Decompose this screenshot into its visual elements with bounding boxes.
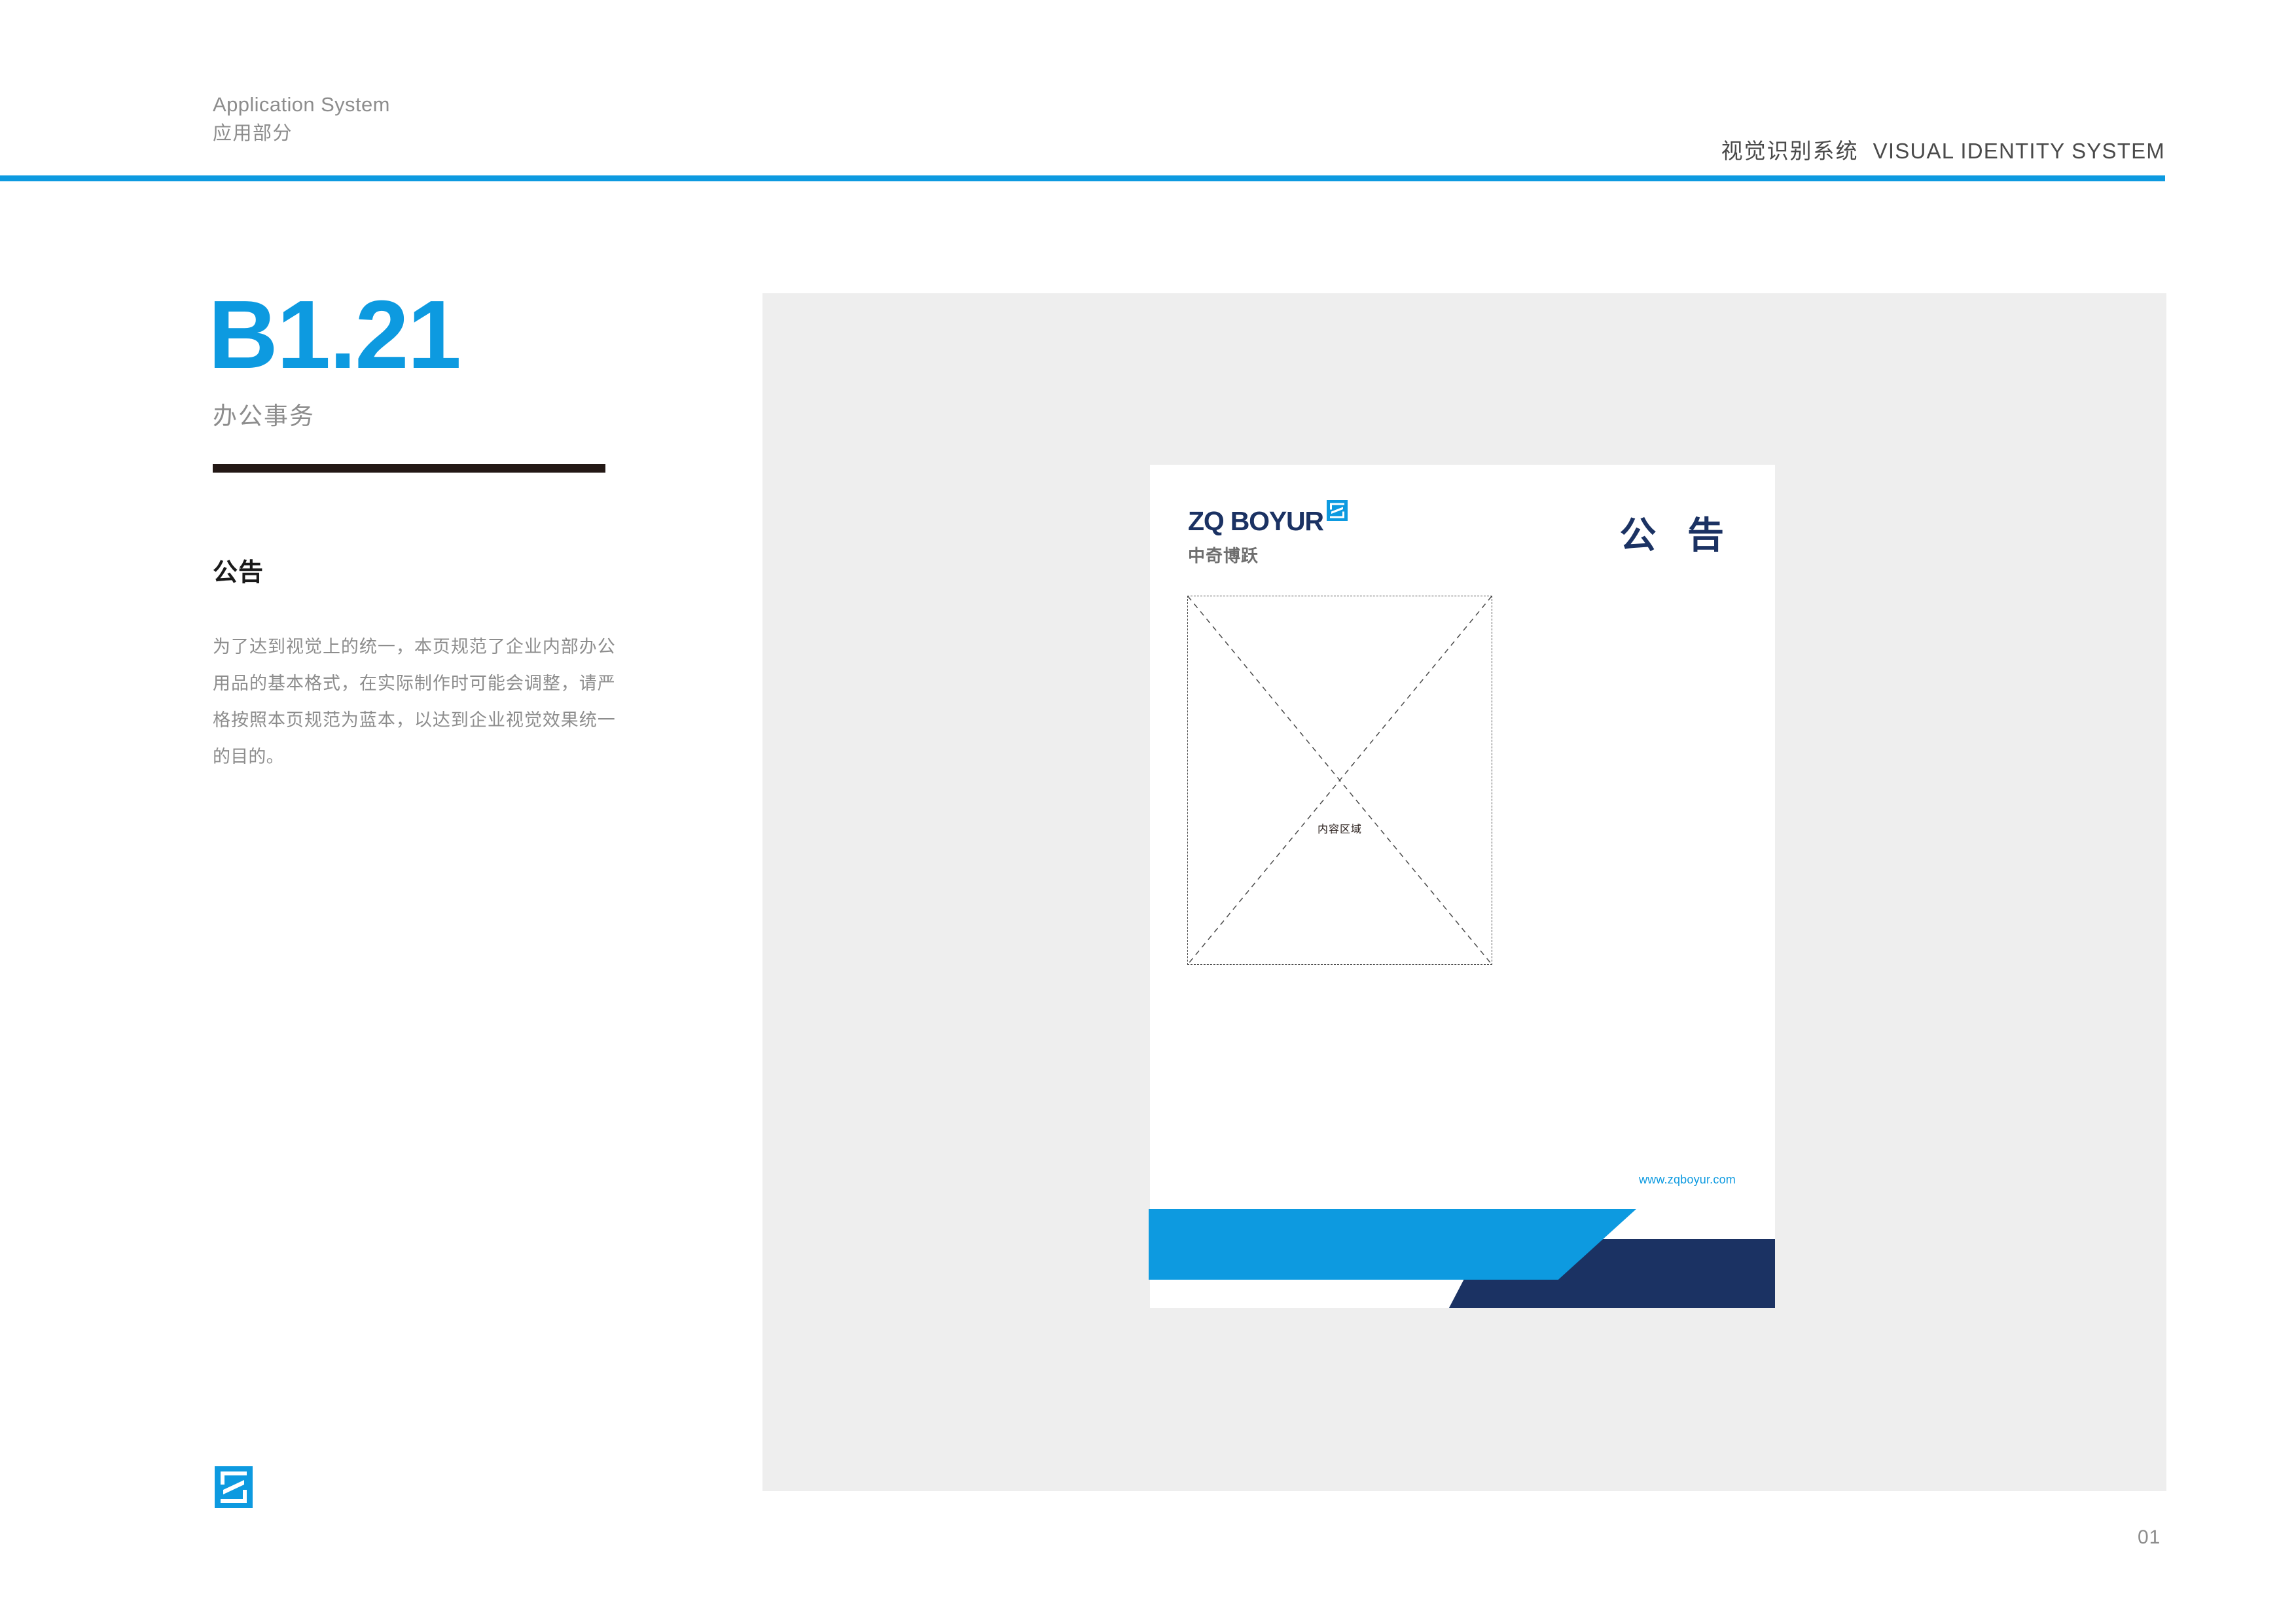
section-divider-bar [213,464,605,473]
header-title-block: Application System 应用部分 [213,92,390,146]
brand-wordmark: ZQ BOYUR [1188,508,1323,535]
brand-logo-lockup: ZQ BOYUR 中奇博跃 [1188,508,1348,567]
header-title-en: Application System [213,92,390,118]
mockup-preview-panel: ZQ BOYUR 中奇博跃 公 告 [762,293,2166,1491]
page-code-subtitle: 办公事务 [213,396,315,431]
content-area-placeholder: 内容区域 [1187,596,1492,965]
website-url: www.zqboyur.com [1639,1173,1736,1187]
header-divider-rule [0,175,2165,181]
header-system-label-cn: 视觉识别系统 [1721,139,1859,163]
announcement-sheet-mockup: ZQ BOYUR 中奇博跃 公 告 [1150,465,1775,1308]
page-code-title: B1.21 [208,287,460,384]
content-area-label: 内容区域 [1315,819,1365,837]
section-body-text: 为了达到视觉上的统一，本页规范了企业内部办公用品的基本格式，在实际制作时可能会调… [213,628,615,776]
header-system-label: 视觉识别系统VISUAL IDENTITY SYSTEM [1721,134,2165,165]
page-number: 01 [2138,1526,2161,1549]
brand-name-cn: 中奇博跃 [1188,543,1348,567]
header-title-cn: 应用部分 [213,121,390,146]
footer-band-cyan [1149,1209,1636,1280]
zq-square-logo-icon [1327,500,1348,521]
section-heading: 公告 [213,552,264,588]
zq-square-logo-icon [215,1466,253,1508]
header-system-label-en: VISUAL IDENTITY SYSTEM [1873,139,2165,163]
document-title: 公 告 [1619,506,1734,559]
